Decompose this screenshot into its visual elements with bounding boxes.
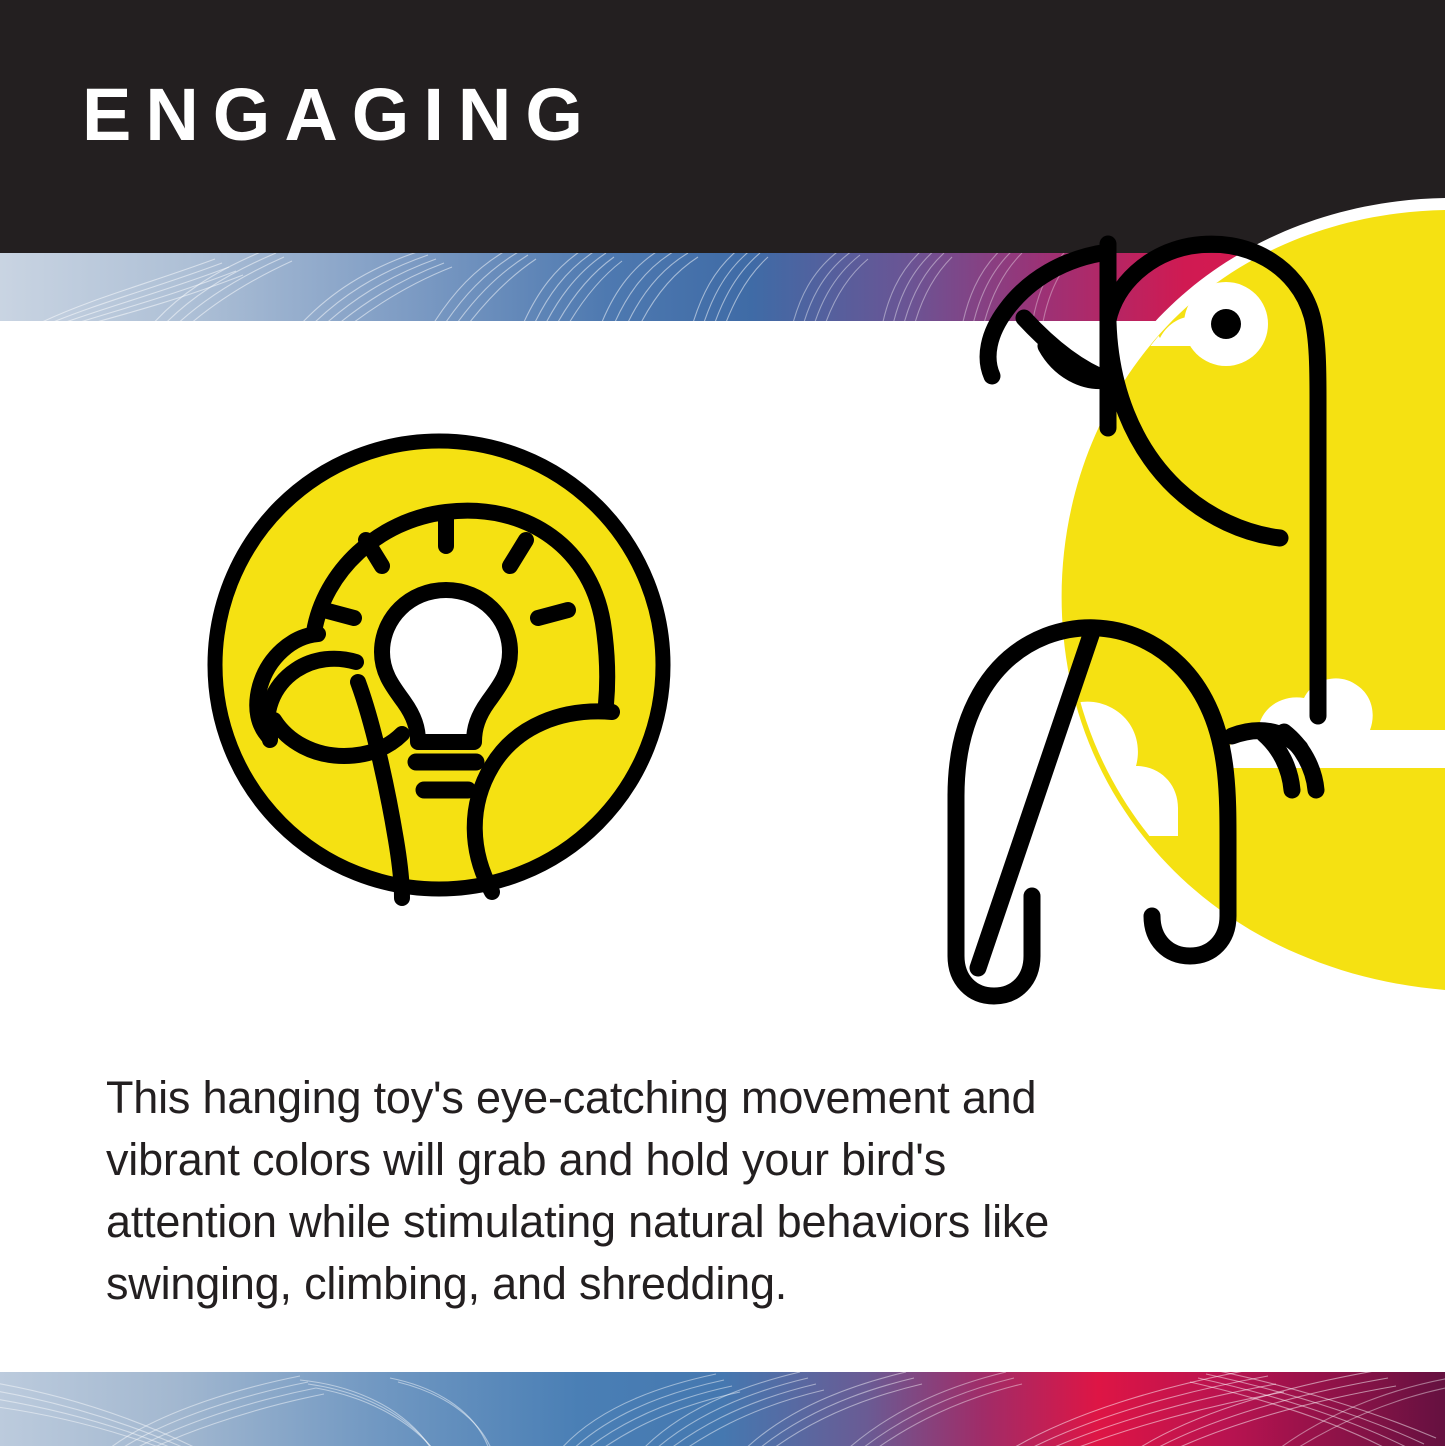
promo-graphic: ENGAGING [0,0,1445,1446]
parrot-illustration [860,196,1445,1066]
page-title: ENGAGING [82,78,597,152]
body-paragraph: This hanging toy's eye-catching movement… [106,1067,1066,1315]
feather-band-bottom [0,1372,1445,1446]
parrot-eye [1184,282,1268,366]
bird-head-lightbulb-icon [196,420,682,910]
